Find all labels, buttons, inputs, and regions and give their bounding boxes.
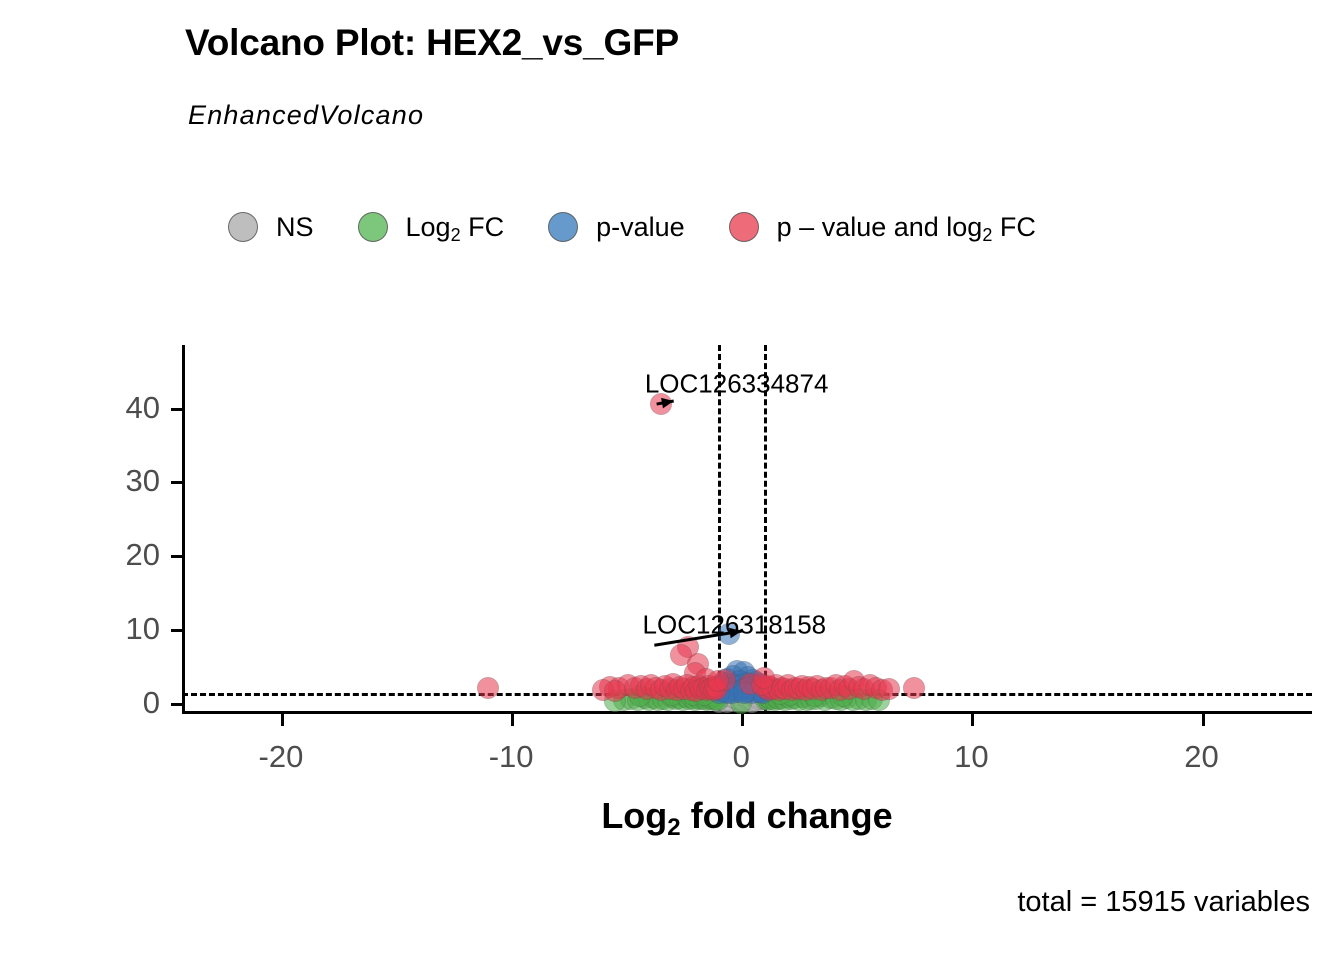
legend-key-icon xyxy=(729,212,759,242)
plot-subtitle: EnhancedVolcano xyxy=(188,100,424,131)
page-title: Volcano Plot: HEX2_vs_GFP xyxy=(185,22,679,64)
x-axis-title-tail: fold change xyxy=(681,795,893,836)
y-tick-mark xyxy=(171,555,182,558)
annotation-arrows xyxy=(182,345,1312,713)
x-tick-mark xyxy=(511,714,514,726)
x-tick-label: 10 xyxy=(954,739,988,775)
y-tick-label: 0 xyxy=(143,685,160,721)
x-tick-label: -20 xyxy=(259,739,304,775)
y-tick-mark xyxy=(171,703,182,706)
legend-key-icon xyxy=(548,212,578,242)
y-tick-label: 30 xyxy=(126,463,160,499)
y-axis-title: − Log10 P xyxy=(30,0,78,345)
total-variables-caption: total = 15915 variables xyxy=(1017,886,1310,919)
legend-item-0[interactable]: NS xyxy=(228,212,314,243)
x-tick-mark xyxy=(1202,714,1205,726)
legend-item-label: Log2 FC xyxy=(406,212,505,243)
legend-key-icon xyxy=(358,212,388,242)
x-axis-title: Log2 fold change xyxy=(182,795,1312,837)
y-tick-mark xyxy=(171,629,182,632)
y-tick-mark xyxy=(171,408,182,411)
legend-item-label: NS xyxy=(276,212,314,243)
plot-panel: 010203040-20-1001020 LOC126334874LOC1263… xyxy=(182,345,1312,713)
x-axis-title-main: Log xyxy=(601,795,667,836)
x-tick-mark xyxy=(741,714,744,726)
y-tick-label: 40 xyxy=(126,390,160,426)
legend-key-icon xyxy=(228,212,258,242)
y-tick-mark xyxy=(171,481,182,484)
y-tick-label: 10 xyxy=(126,611,160,647)
x-tick-mark xyxy=(281,714,284,726)
legend-item-2[interactable]: p-value xyxy=(548,212,685,243)
x-tick-label: 0 xyxy=(733,739,750,775)
plot-legend: NSLog2 FCp-valuep – value and log2 FC xyxy=(228,198,1080,256)
x-tick-mark xyxy=(971,714,974,726)
volcano-plot-figure: Volcano Plot: HEX2_vs_GFP EnhancedVolcan… xyxy=(0,0,1344,960)
x-axis-title-sub: 2 xyxy=(667,814,680,841)
x-tick-label: 20 xyxy=(1184,739,1218,775)
x-tick-label: -10 xyxy=(489,739,534,775)
y-tick-label: 20 xyxy=(126,537,160,573)
legend-item-label: p-value xyxy=(596,212,685,243)
legend-item-3[interactable]: p – value and log2 FC xyxy=(729,212,1036,243)
legend-item-1[interactable]: Log2 FC xyxy=(358,212,505,243)
legend-item-label: p – value and log2 FC xyxy=(777,212,1036,243)
